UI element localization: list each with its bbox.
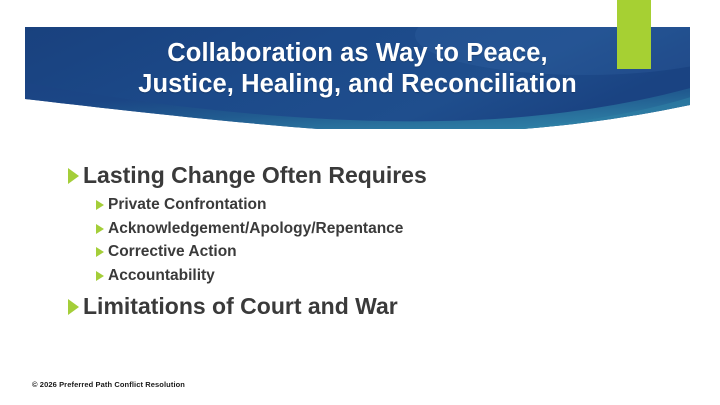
presentation-slide: Collaboration as Way to Peace, Justice, … <box>0 0 720 405</box>
green-triangle-bullet-icon <box>68 168 79 184</box>
bullet-item-level1: Lasting Change Often Requires <box>0 160 720 190</box>
title-banner: Collaboration as Way to Peace, Justice, … <box>25 27 690 129</box>
bullet-item-level1: Limitations of Court and War <box>0 291 720 321</box>
bullet-item-level2: Accountability <box>0 265 720 288</box>
slide-body: Lasting Change Often Requires Private Co… <box>0 160 720 322</box>
bullet-text: Accountability <box>108 265 215 288</box>
bullet-item-level2: Corrective Action <box>0 241 720 264</box>
green-triangle-bullet-icon <box>96 247 104 257</box>
bullet-text: Acknowledgement/Apology/Repentance <box>108 218 403 241</box>
bullet-text: Private Confrontation <box>108 194 266 217</box>
green-accent-rectangle <box>617 0 651 69</box>
title-banner-shape <box>25 27 690 129</box>
green-triangle-bullet-icon <box>68 299 79 315</box>
bullet-text: Corrective Action <box>108 241 237 264</box>
bullet-text: Limitations of Court and War <box>83 291 398 321</box>
green-triangle-bullet-icon <box>96 200 104 210</box>
bullet-item-level2: Acknowledgement/Apology/Repentance <box>0 218 720 241</box>
footer-copyright: © 2026 Preferred Path Conflict Resolutio… <box>32 380 185 390</box>
green-triangle-bullet-icon <box>96 271 104 281</box>
green-triangle-bullet-icon <box>96 224 104 234</box>
bullet-text: Lasting Change Often Requires <box>83 160 427 190</box>
bullet-item-level2: Private Confrontation <box>0 194 720 217</box>
sub-bullet-group: Private Confrontation Acknowledgement/Ap… <box>0 194 720 287</box>
